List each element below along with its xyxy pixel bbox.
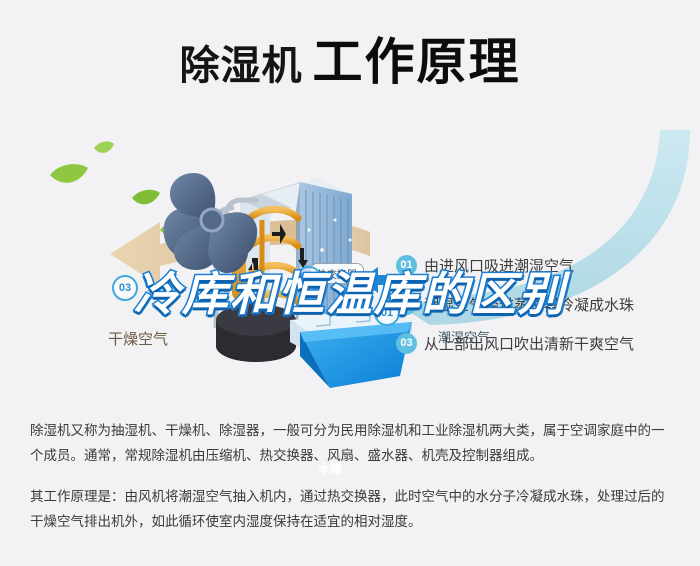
page-title: 除湿机工作原理 xyxy=(0,22,700,94)
poster-root: 除湿机工作原理 xyxy=(0,0,700,566)
compressor xyxy=(216,304,296,362)
legend-badge-03: 03 xyxy=(396,333,417,354)
legend-item-03: 03 从上部出风口吹出清新干爽空气 xyxy=(396,332,696,354)
legend-badge-01: 01 xyxy=(396,255,417,276)
evaporator-block xyxy=(296,182,352,332)
legend-item-02: 02 潮湿空气经过蒸发器冷凝成水珠 xyxy=(396,293,696,315)
legend-text-01: 由进风口吸进潮湿空气 xyxy=(424,255,574,276)
body-paragraph-2: 其工作原理是：由风机将潮湿空气抽入机内，通过热交换器，此时空气中的水分子冷凝成水… xyxy=(30,484,670,534)
fan-blades xyxy=(164,173,258,273)
body-paragraph-1: 除湿机又称为抽湿机、干燥机、除湿器，一般可分为民用除湿机和工业除湿机两大类，属于… xyxy=(30,418,670,468)
legend-text-03: 从上部出风口吹出清新干爽空气 xyxy=(424,333,634,354)
legend-list: 01 由进风口吸进潮湿空气 02 潮湿空气经过蒸发器冷凝成水珠 03 从上部出风… xyxy=(396,254,696,371)
legend-badge-02: 02 xyxy=(396,294,417,315)
body-copy: 除湿机又称为抽湿机、干燥机、除湿器，一般可分为民用除湿机和工业除湿机两大类，属于… xyxy=(30,418,670,550)
marker-03: 03 xyxy=(112,275,138,301)
legend-item-01: 01 由进风口吸进潮湿空气 xyxy=(396,254,696,276)
title-part-2: 工作原理 xyxy=(313,34,521,90)
marker-02: 02 xyxy=(296,266,322,292)
title-part-1: 除湿机 xyxy=(180,44,303,88)
dry-air-label: 干燥空气 xyxy=(108,328,168,349)
legend-text-02: 潮湿空气经过蒸发器冷凝成水珠 xyxy=(424,294,634,315)
